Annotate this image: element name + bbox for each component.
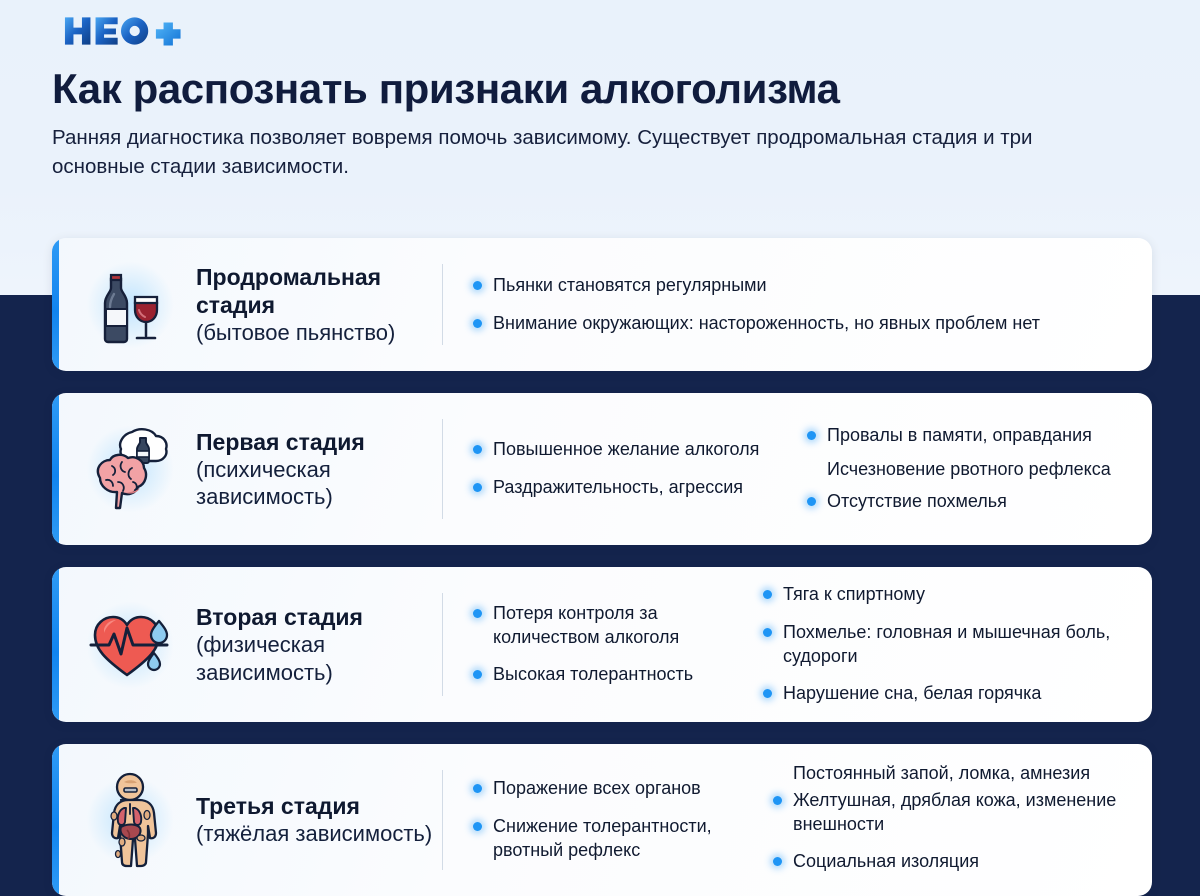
stage-name: Первая стадия (196, 428, 442, 456)
card-left-block: Третья стадия (тяжёлая зависимость) (52, 744, 442, 896)
symptom-column-b: Провалы в памяти, оправдания Исчезновени… (783, 417, 1136, 522)
symptom-column-b: Тяга к спиртному Похмелье: головная и мы… (743, 576, 1136, 714)
human-body-organs-icon (78, 772, 182, 868)
infographic-page: Как распознать признаки алкоголизма Ранн… (0, 0, 1200, 896)
card-left-block: Первая стадия (психическая зависимость) (52, 393, 442, 545)
symptom-column-a: Повышенное желание алкоголя Раздражитель… (443, 431, 783, 507)
stage-heading: Вторая стадия (физическая зависимость) (182, 603, 442, 686)
list-item: Отсутствие похмелья (805, 490, 1126, 514)
symptom-column-b: Постоянный запой, ломка, амнезия Желтушн… (753, 759, 1136, 882)
stage-name: Продромальная стадия (196, 263, 442, 319)
stage-heading: Третья стадия (тяжёлая зависимость) (182, 792, 432, 847)
list-item: Внимание окружающих: настороженность, но… (471, 312, 1126, 336)
symptom-column-a: Потеря контроля за количеством алкоголя … (443, 595, 743, 695)
stage-symptom-columns: Пьянки становятся регулярными Внимание о… (443, 238, 1152, 371)
header: Как распознать признаки алкоголизма Ранн… (0, 0, 1200, 182)
stage-subname: (бытовое пьянство) (196, 319, 442, 346)
heart-pulse-drops-icon (78, 607, 182, 683)
stage-heading: Продромальная стадия (бытовое пьянство) (182, 263, 442, 346)
symptom-column-a: Пьянки становятся регулярными Внимание о… (443, 267, 1136, 343)
list-item: Социальная изоляция (771, 850, 1126, 874)
list-item: Высокая толерантность (471, 663, 733, 687)
brain-thought-bottle-icon (78, 426, 182, 512)
stage-card-prodromal[interactable]: Продромальная стадия (бытовое пьянство) … (52, 238, 1152, 371)
stage-card-third[interactable]: Третья стадия (тяжёлая зависимость) Пора… (52, 744, 1152, 896)
list-item: Раздражительность, агрессия (471, 476, 773, 500)
symptom-column-a: Поражение всех органов Снижение толерант… (443, 770, 753, 870)
stage-card-second[interactable]: Вторая стадия (физическая зависимость) П… (52, 567, 1152, 722)
stage-card-list: Продромальная стадия (бытовое пьянство) … (52, 238, 1152, 896)
list-item: Тяга к спиртному (761, 583, 1126, 607)
stage-symptom-columns: Поражение всех органов Снижение толерант… (443, 744, 1152, 896)
stage-subname: (тяжёлая зависимость) (196, 820, 432, 847)
stage-subname: (психическая зависимость) (196, 456, 442, 511)
list-item: Поражение всех органов (471, 777, 743, 801)
stage-name: Вторая стадия (196, 603, 442, 631)
stage-name: Третья стадия (196, 792, 432, 820)
list-item: Пьянки становятся регулярными (471, 274, 1126, 298)
list-item: Исчезновение рвотного рефлекса (805, 458, 1126, 482)
card-left-block: Продромальная стадия (бытовое пьянство) (52, 238, 442, 371)
list-item: Снижение толерантности, рвотный рефлекс (471, 815, 743, 863)
stage-symptom-columns: Потеря контроля за количеством алкоголя … (443, 567, 1152, 722)
stage-heading: Первая стадия (психическая зависимость) (182, 428, 442, 511)
list-item: Провалы в памяти, оправдания (805, 424, 1126, 448)
list-item: Повышенное желание алкоголя (471, 438, 773, 462)
stage-subname: (физическая зависимость) (196, 631, 442, 686)
list-item: Желтушная, дряблая кожа, изменение внешн… (771, 789, 1126, 837)
wine-bottle-glass-icon (78, 264, 182, 346)
page-subtitle: Ранняя диагностика позволяет вовремя пом… (52, 123, 1082, 181)
list-item: Потеря контроля за количеством алкоголя (471, 602, 733, 650)
list-item: Похмелье: головная и мышечная боль, судо… (761, 621, 1126, 669)
card-left-block: Вторая стадия (физическая зависимость) (52, 567, 442, 722)
neo-plus-logo-icon (52, 14, 202, 48)
list-item: Нарушение сна, белая горячка (761, 682, 1126, 706)
stage-symptom-columns: Повышенное желание алкоголя Раздражитель… (443, 393, 1152, 545)
list-item: Постоянный запой, ломка, амнезия (771, 762, 1126, 786)
page-title: Как распознать признаки алкоголизма (52, 66, 1148, 111)
stage-card-first[interactable]: Первая стадия (психическая зависимость) … (52, 393, 1152, 545)
